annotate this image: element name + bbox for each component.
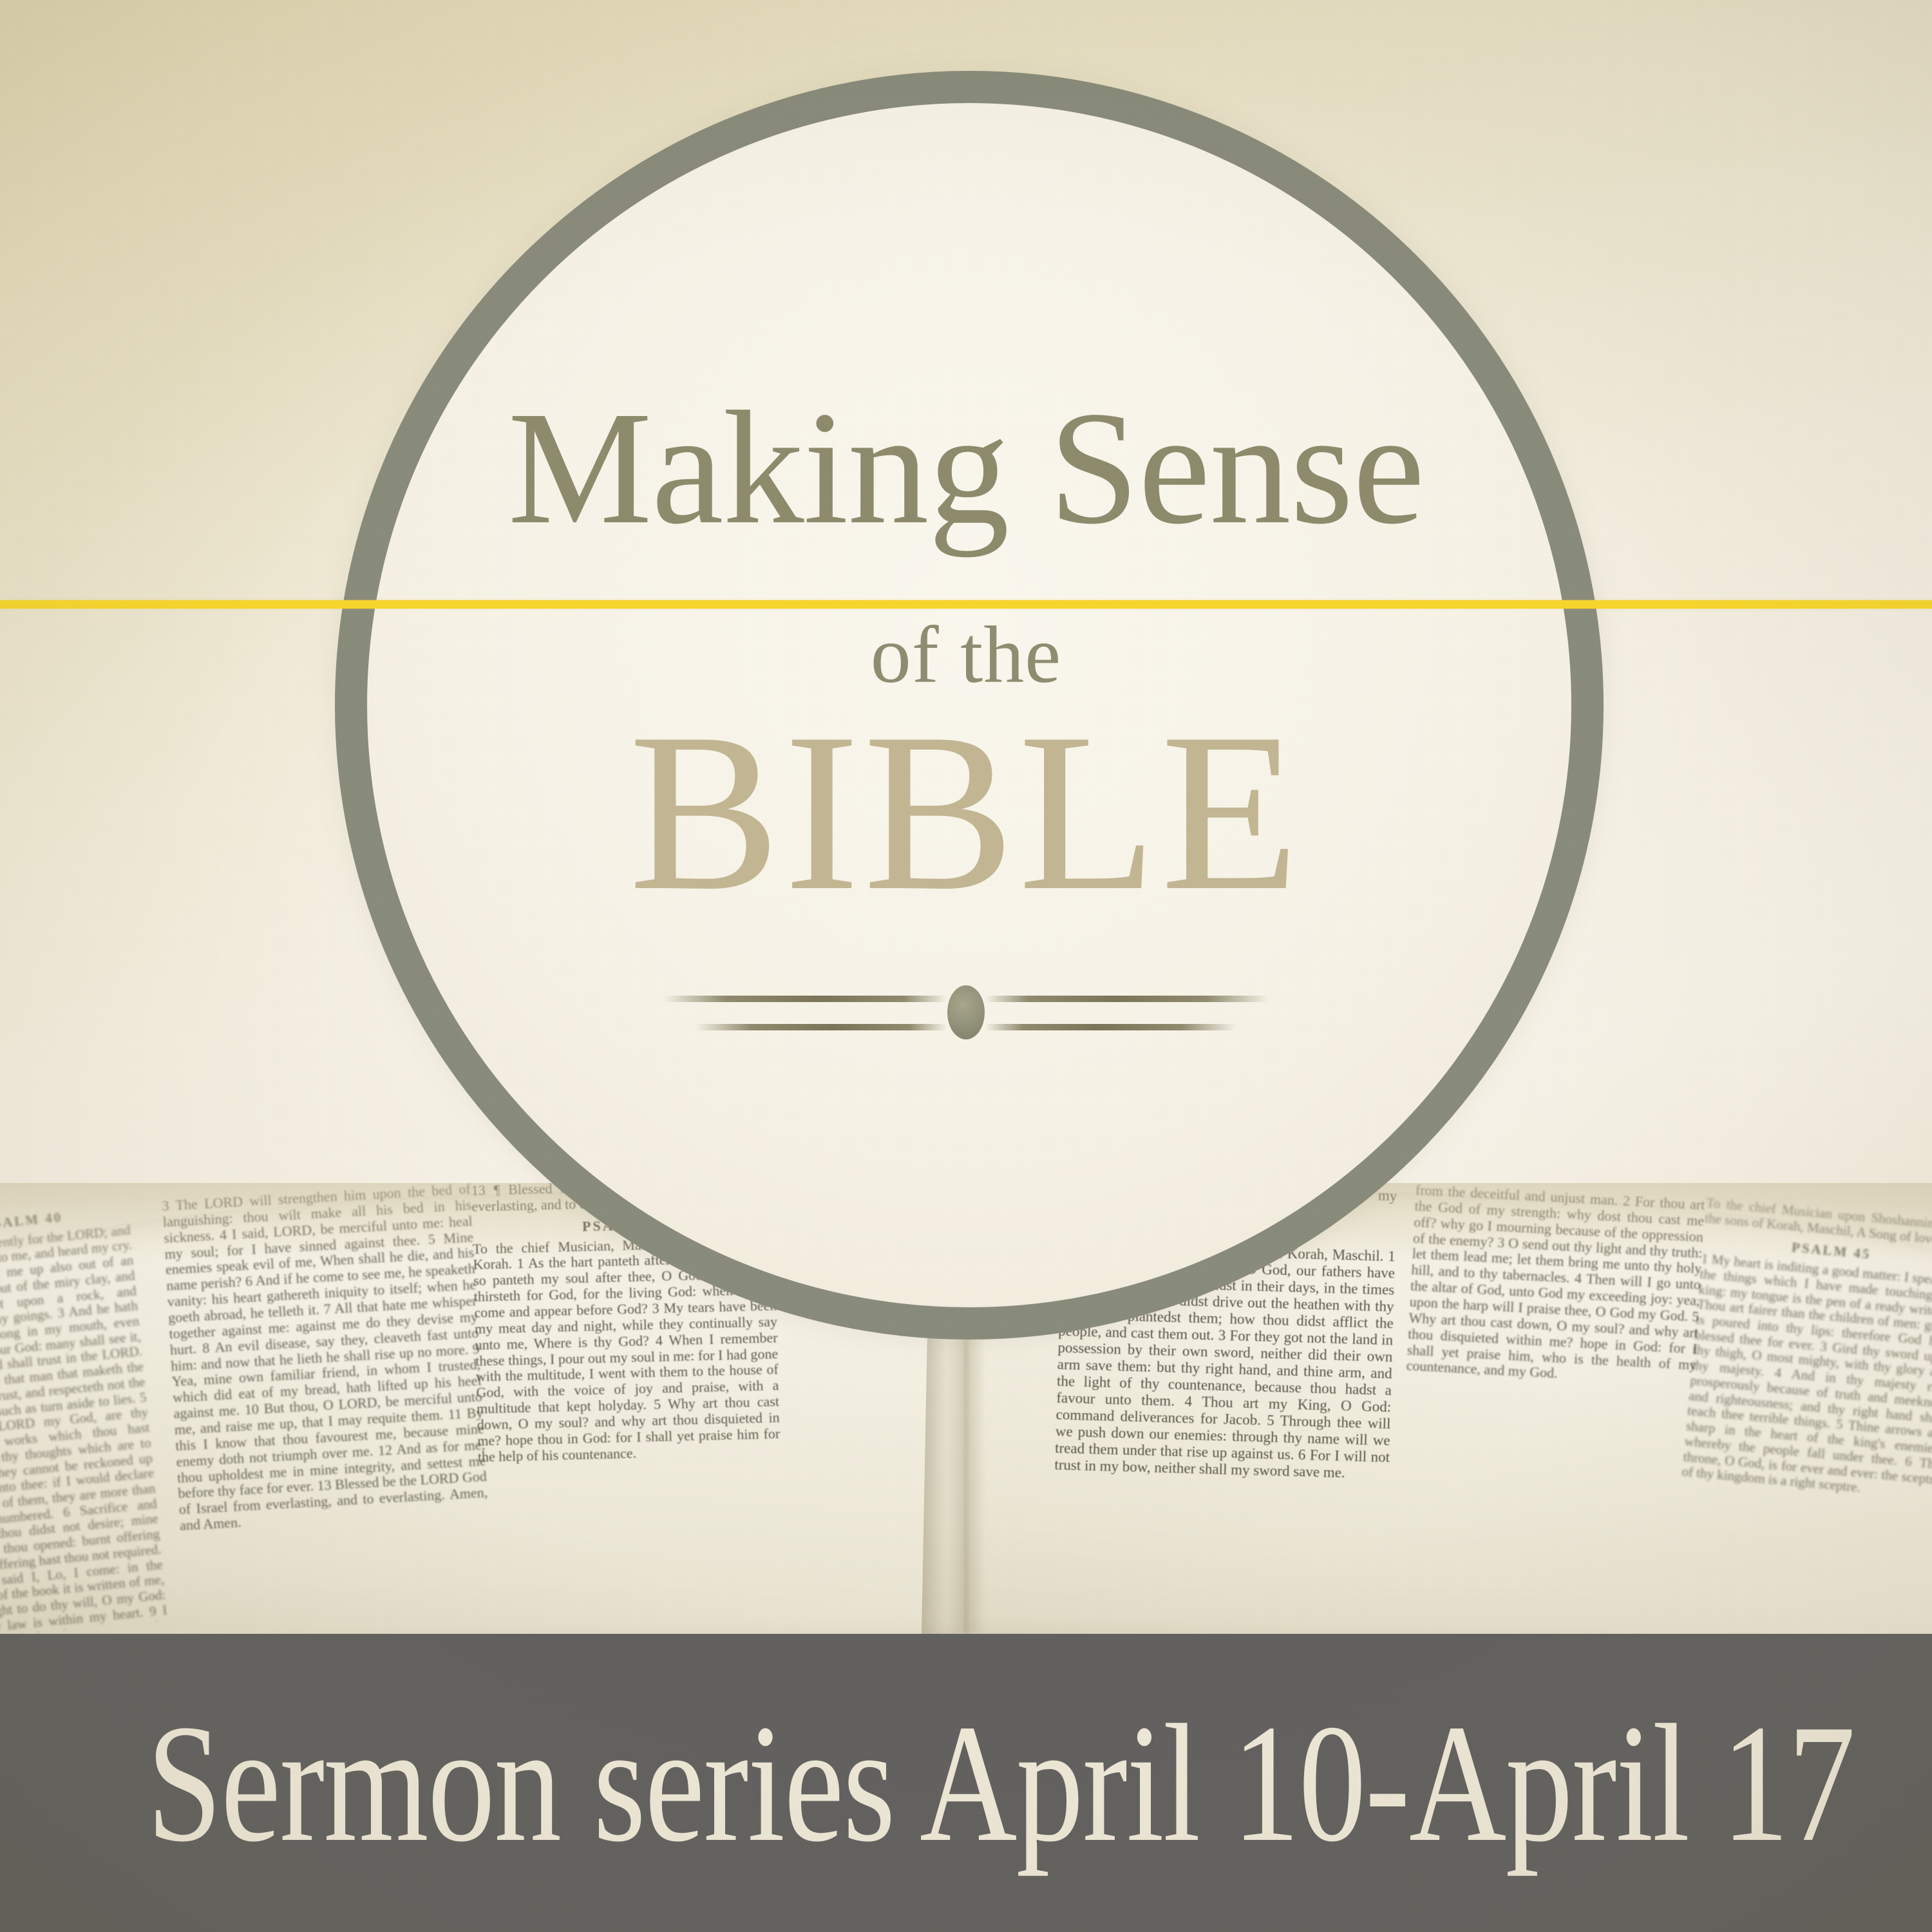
vignette-overlay [0,0,1932,1932]
sermon-series-graphic: PSALM 40 1 I waited patiently for the LO… [0,0,1932,1932]
